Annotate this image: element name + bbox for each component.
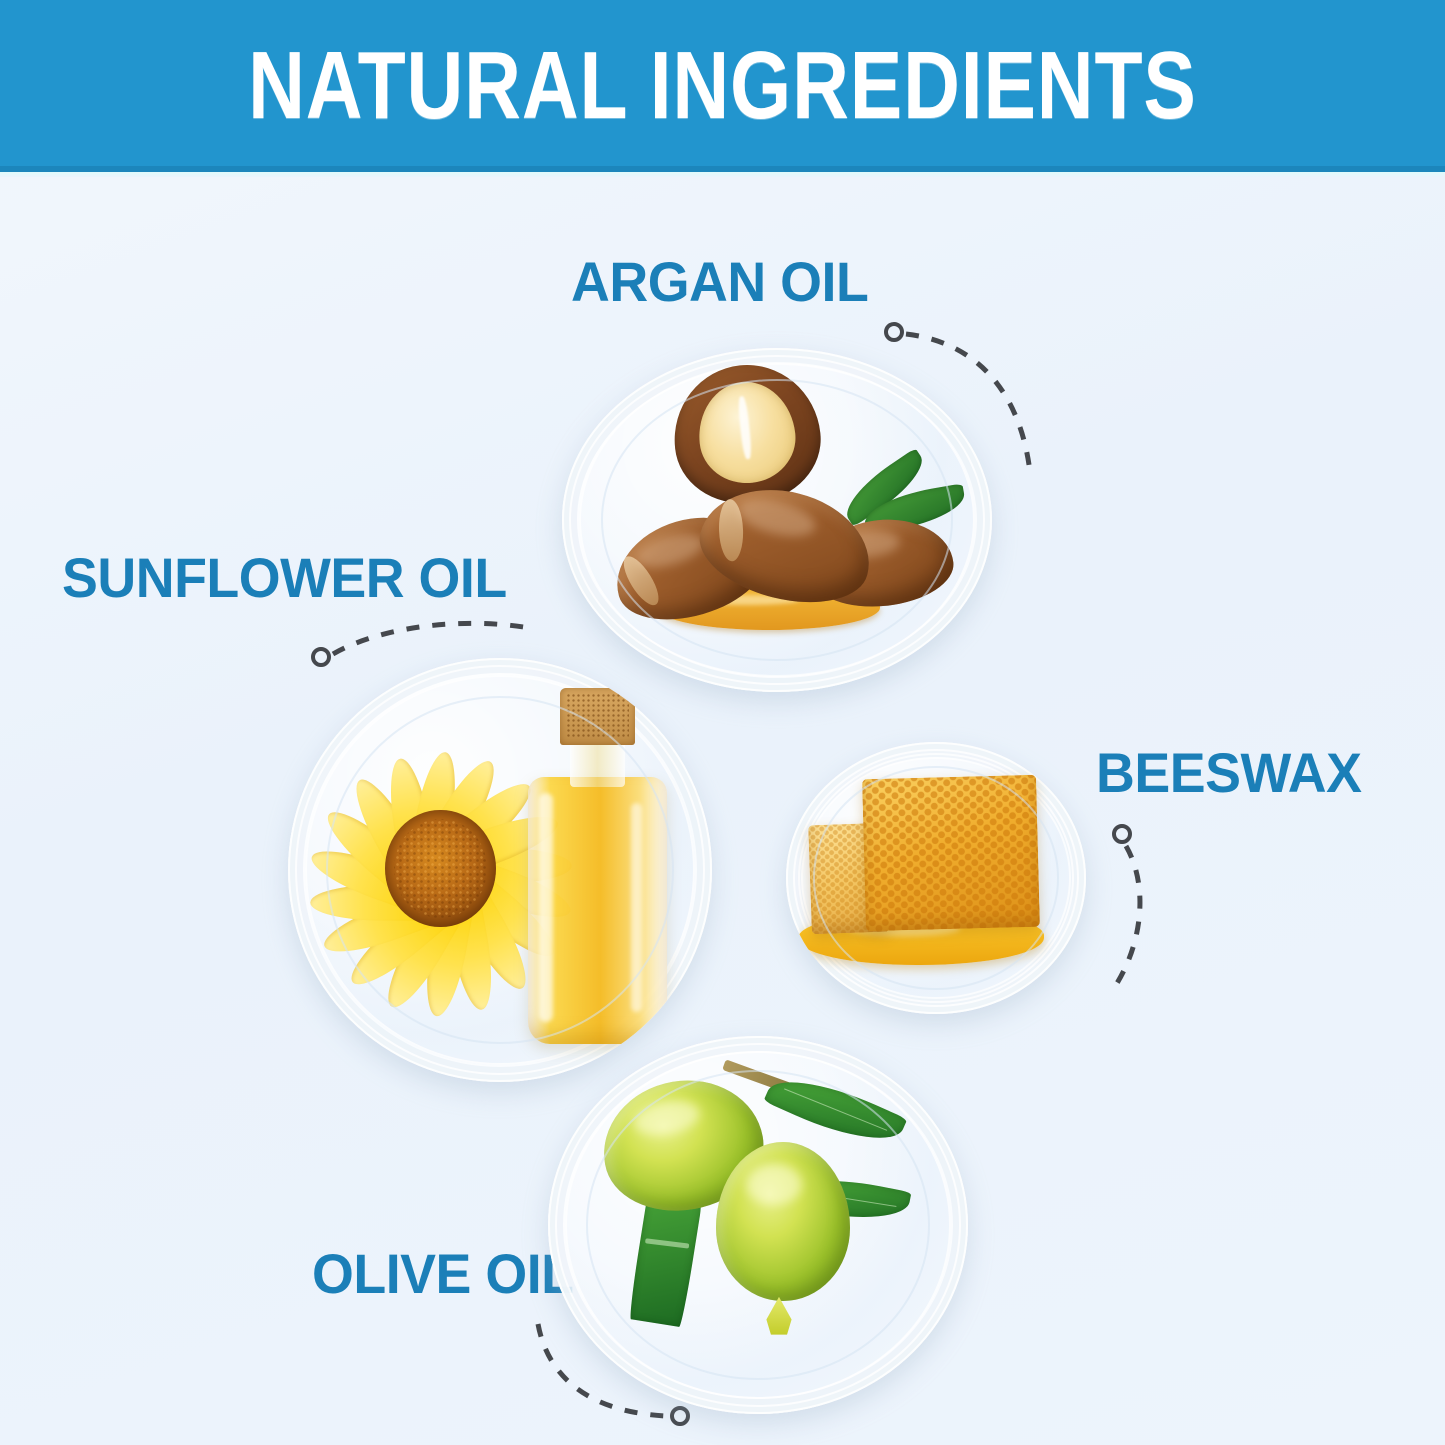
argan-kernel <box>693 377 800 488</box>
olive-artwork <box>548 1036 968 1414</box>
honeycomb-block-icon <box>808 822 890 933</box>
olive-leaf-icon <box>628 1161 707 1326</box>
label-beeswax: BEESWAX <box>1096 745 1362 801</box>
connector-arc-beeswax <box>1098 822 1178 997</box>
page-title: NATURAL INGREDIENTS <box>248 38 1197 134</box>
olive-fruit-icon <box>716 1142 850 1301</box>
banner-underglow <box>0 172 1445 177</box>
honeycomb-artwork <box>786 742 1086 1014</box>
honey-pool <box>798 911 1044 965</box>
argan-cut-nut-icon <box>667 358 827 510</box>
dish-olive-oil <box>548 1036 968 1414</box>
bottle-body <box>528 777 666 1044</box>
dish-contents-argan-oil <box>562 348 992 692</box>
bottle-neck <box>570 738 625 788</box>
header-banner: NATURAL INGREDIENTS <box>0 0 1445 172</box>
dish-contents-beeswax <box>786 742 1086 1014</box>
label-olive-oil: OLIVE OIL <box>312 1246 574 1302</box>
honeycomb-block-icon <box>862 775 1040 932</box>
sunflower-icon <box>309 726 572 1006</box>
dish-argan-oil <box>562 348 992 692</box>
dish-contents-sunflower-oil <box>288 658 712 1082</box>
olive-oil-drop-icon <box>766 1297 791 1335</box>
label-sunflower-oil: SUNFLOWER OIL <box>62 550 507 606</box>
dish-contents-olive-oil <box>548 1036 968 1414</box>
sunflower-artwork <box>288 658 712 1082</box>
argan-leaf-icon <box>837 448 933 527</box>
olive-branch <box>722 1059 797 1095</box>
label-argan-oil: ARGAN OIL <box>571 254 868 310</box>
bottle-cork <box>560 688 635 745</box>
sunflower-center <box>385 810 495 928</box>
dish-sunflower-oil <box>288 658 712 1082</box>
argan-leaf-icon <box>861 484 969 536</box>
argan-nut-icon <box>689 473 882 618</box>
oil-bottle-icon <box>525 688 669 1044</box>
argan-artwork <box>562 348 992 692</box>
infographic-page: NATURAL INGREDIENTS ARGAN OIL <box>0 0 1445 1445</box>
dish-beeswax <box>786 742 1086 1014</box>
